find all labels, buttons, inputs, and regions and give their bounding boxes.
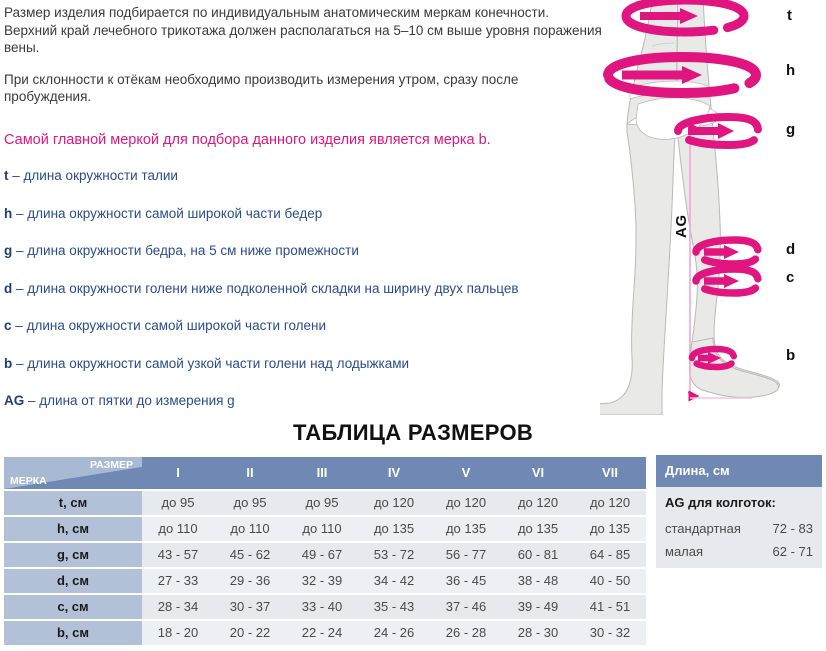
legend-description: длина окружности самой широкой части бед…	[27, 206, 322, 221]
length-row-small: малая 62 - 71	[665, 544, 813, 559]
legend-description: длина окружности бедра, на 5 см ниже про…	[27, 243, 359, 258]
length-row-value: 72 - 83	[773, 521, 813, 536]
cell-g-5: 56 - 77	[430, 543, 502, 567]
size-header-3: III	[286, 457, 358, 489]
ag-arrow-head-bottom	[688, 392, 692, 400]
cell-h-5: до 135	[430, 517, 502, 541]
cell-g-6: 60 - 81	[502, 543, 574, 567]
figure-label-c: c	[786, 269, 794, 286]
cell-d-1: 27 - 33	[142, 569, 214, 593]
size-header-5: V	[430, 457, 502, 489]
cell-d-4: 34 - 42	[358, 569, 430, 593]
size-header-4: IV	[358, 457, 430, 489]
page-title: ТАБЛИЦА РАЗМЕРОВ	[0, 420, 826, 446]
size-table: РАЗМЕР МЕРКА I II III IV V VI VII t, см …	[4, 455, 646, 647]
measure-band-d	[696, 240, 758, 264]
figure-label-t: t	[787, 7, 792, 24]
cell-c-4: 35 - 43	[358, 595, 430, 619]
cell-h-6: до 135	[502, 517, 574, 541]
cell-c-1: 28 - 34	[142, 595, 214, 619]
legend-item-h: h – длина окружности самой широкой части…	[4, 206, 609, 222]
cell-t-5: до 120	[430, 491, 502, 515]
length-panel-header-row: Длина, см	[656, 455, 822, 487]
cell-d-3: 32 - 39	[286, 569, 358, 593]
length-panel-subtitle: AG для колготок:	[665, 495, 813, 510]
legend-item-t: t – длина окружности талии	[4, 168, 609, 184]
cell-d-5: 36 - 45	[430, 569, 502, 593]
length-panel: Длина, см AG для колготок: стандартная 7…	[656, 455, 822, 568]
length-panel-header: Длина, см	[656, 455, 822, 487]
legend-key: b	[4, 356, 12, 371]
intro-paragraph-1: Размер изделия подбирается по индивидуал…	[4, 4, 604, 57]
legend-description: длина окружности самой широкой части гол…	[27, 318, 326, 333]
legend-dash: –	[12, 168, 20, 183]
legend-dash: –	[16, 243, 24, 258]
cell-g-4: 53 - 72	[358, 543, 430, 567]
size-table-head: РАЗМЕР МЕРКА I II III IV V VI VII	[4, 457, 646, 489]
size-header-6: VI	[502, 457, 574, 489]
cell-b-6: 28 - 30	[502, 621, 574, 645]
length-panel-body: AG для колготок: стандартная 72 - 83 мал…	[656, 487, 822, 568]
cell-c-2: 30 - 37	[214, 595, 286, 619]
legend-key: AG	[4, 393, 24, 408]
d-arrow-head	[724, 245, 739, 259]
legend-description: длина окружности самой узкой части голен…	[27, 356, 409, 371]
legend-dash: –	[16, 206, 24, 221]
size-table-header-row: РАЗМЕР МЕРКА I II III IV V VI VII	[4, 457, 646, 489]
legend-dash: –	[15, 318, 23, 333]
legend-description: длина от пятки до измерения g	[39, 393, 234, 408]
cell-g-3: 49 - 67	[286, 543, 358, 567]
legend-item-b: b – длина окружности самой узкой части г…	[4, 356, 609, 372]
cell-d-6: 38 - 48	[502, 569, 574, 593]
table-row: t, см до 95 до 95 до 95 до 120 до 120 до…	[4, 491, 646, 515]
size-header-7: VII	[574, 457, 646, 489]
cell-b-4: 24 - 26	[358, 621, 430, 645]
cell-d-7: 40 - 50	[574, 569, 646, 593]
row-label-t: t, см	[4, 491, 142, 515]
legend-description: длина окружности талии	[24, 168, 178, 183]
highlight-note: Самой главной меркой для подбора данного…	[4, 131, 604, 149]
row-label-h: h, см	[4, 517, 142, 541]
cell-g-1: 43 - 57	[142, 543, 214, 567]
legend-item-g: g – длина окружности бедра, на 5 см ниже…	[4, 243, 609, 259]
cell-d-2: 29 - 36	[214, 569, 286, 593]
cell-t-1: до 95	[142, 491, 214, 515]
cell-h-2: до 110	[214, 517, 286, 541]
corner-row-header: МЕРКА	[10, 474, 47, 488]
length-row-name: стандартная	[665, 521, 741, 536]
cell-t-2: до 95	[214, 491, 286, 515]
legend-key: d	[4, 281, 12, 296]
row-label-g: g, см	[4, 543, 142, 567]
row-label-c: c, см	[4, 595, 142, 619]
cell-b-1: 18 - 20	[142, 621, 214, 645]
cell-b-7: 30 - 32	[574, 621, 646, 645]
cell-t-7: до 120	[574, 491, 646, 515]
legend-key: h	[4, 206, 12, 221]
cell-b-5: 26 - 28	[430, 621, 502, 645]
cell-c-3: 33 - 40	[286, 595, 358, 619]
c-arrow-head	[724, 274, 739, 288]
legend-description: длина окружности голени ниже подколенной…	[27, 281, 518, 296]
table-row: g, см 43 - 57 45 - 62 49 - 67 53 - 72 56…	[4, 543, 646, 567]
cell-h-3: до 110	[286, 517, 358, 541]
figure-label-b: b	[786, 347, 795, 364]
measure-band-g	[678, 117, 758, 145]
corner-column-header: РАЗМЕР	[90, 458, 133, 472]
length-panel-body-row: AG для колготок: стандартная 72 - 83 мал…	[656, 487, 822, 568]
legend-dash: –	[16, 281, 24, 296]
table-row: b, см 18 - 20 20 - 22 22 - 24 24 - 26 26…	[4, 621, 646, 645]
legend-key: g	[4, 243, 12, 258]
row-label-d: d, см	[4, 569, 142, 593]
size-header-2: II	[214, 457, 286, 489]
legend-dash: –	[16, 356, 24, 371]
cell-g-7: 64 - 85	[574, 543, 646, 567]
cell-c-6: 39 - 49	[502, 595, 574, 619]
table-row: h, см до 110 до 110 до 110 до 135 до 135…	[4, 517, 646, 541]
cell-g-2: 45 - 62	[214, 543, 286, 567]
legend-item-d: d – длина окружности голени ниже подколе…	[4, 281, 609, 297]
cell-h-1: до 110	[142, 517, 214, 541]
table-row: d, см 27 - 33 29 - 36 32 - 39 34 - 42 36…	[4, 569, 646, 593]
length-row-value: 62 - 71	[773, 544, 813, 559]
measure-band-c	[696, 269, 758, 293]
cell-h-4: до 135	[358, 517, 430, 541]
legend-item-c: c – длина окружности самой широкой части…	[4, 318, 609, 334]
body-measurement-diagram: t h g d c b AG	[600, 0, 826, 415]
cell-b-3: 22 - 24	[286, 621, 358, 645]
figure-label-ag: AG	[673, 215, 690, 239]
legend-key: c	[4, 318, 12, 333]
legend-key: t	[4, 168, 9, 183]
length-row-name: малая	[665, 544, 703, 559]
figure-label-h: h	[786, 62, 795, 79]
intro-text-block: Размер изделия подбирается по индивидуал…	[4, 4, 604, 120]
figure-label-g: g	[786, 121, 795, 138]
g-arrow-head	[718, 123, 734, 139]
cell-c-7: 41 - 51	[574, 595, 646, 619]
measure-band-b	[692, 349, 734, 367]
cell-t-3: до 95	[286, 491, 358, 515]
table-row: c, см 28 - 34 30 - 37 33 - 40 35 - 43 37…	[4, 595, 646, 619]
row-label-b: b, см	[4, 621, 142, 645]
corner-header-cell: РАЗМЕР МЕРКА	[4, 457, 142, 489]
figure-label-d: d	[786, 241, 795, 258]
cell-b-2: 20 - 22	[214, 621, 286, 645]
legend-dash: –	[28, 393, 36, 408]
cell-c-5: 37 - 46	[430, 595, 502, 619]
size-table-body: t, см до 95 до 95 до 95 до 120 до 120 до…	[4, 491, 646, 645]
info-section: Размер изделия подбирается по индивидуал…	[0, 0, 826, 415]
length-row-standard: стандартная 72 - 83	[665, 521, 813, 536]
legend-item-ag: AG – длина от пятки до измерения g	[4, 393, 609, 409]
cell-t-6: до 120	[502, 491, 574, 515]
measurement-legend: t – длина окружности талии h – длина окр…	[4, 168, 609, 431]
cell-h-7: до 135	[574, 517, 646, 541]
intro-paragraph-2: При склонности к отёкам необходимо произ…	[4, 71, 604, 106]
cell-t-4: до 120	[358, 491, 430, 515]
size-header-1: I	[142, 457, 214, 489]
